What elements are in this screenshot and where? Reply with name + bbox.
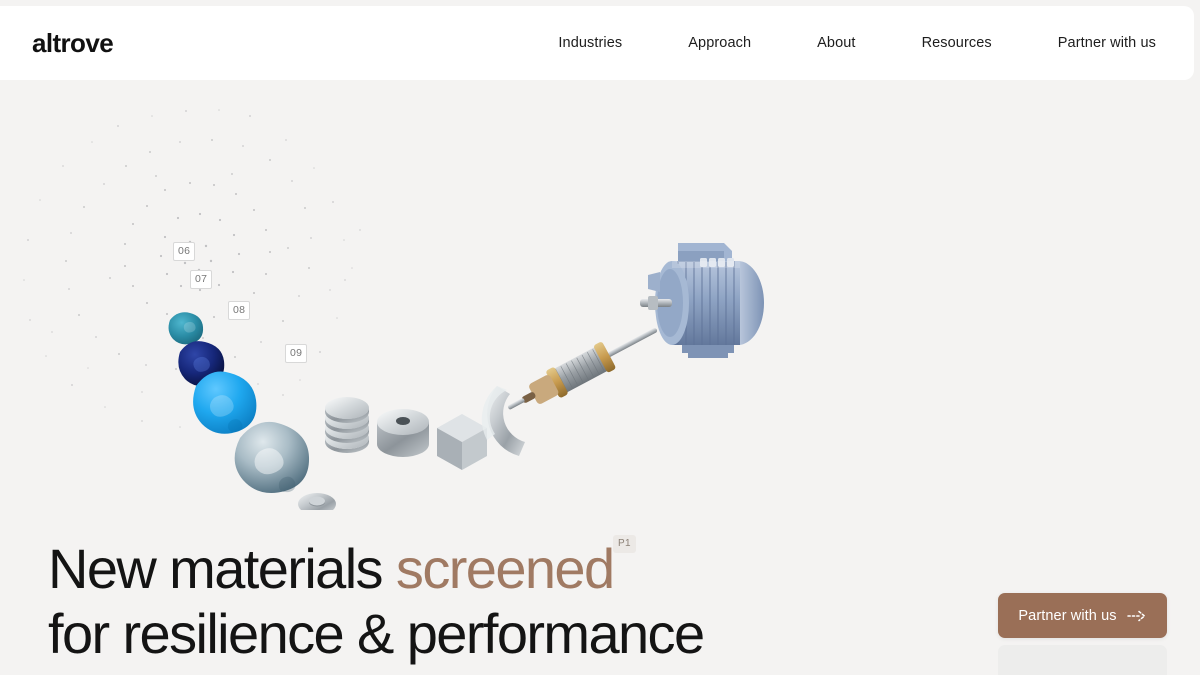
nav-item-partner-with-us[interactable]: Partner with us xyxy=(1025,35,1164,51)
floating-cta-stack: Partner with us xyxy=(998,593,1167,675)
assembled-electric-motor xyxy=(640,243,764,358)
nav-item-resources[interactable]: Resources xyxy=(889,35,1025,51)
metal-cylinder-hub xyxy=(377,409,429,457)
sample-label-06: 06 xyxy=(173,242,195,261)
nav-item-industries[interactable]: Industries xyxy=(525,35,655,51)
cta-label: Partner with us xyxy=(1018,608,1116,624)
headline-part-1: New materials xyxy=(48,537,396,600)
motor-rotor-armature xyxy=(501,316,664,422)
metal-washer-ring xyxy=(298,493,336,510)
page-title: New materials screened for resilience & … xyxy=(48,536,704,666)
sample-label-08: 08 xyxy=(228,301,250,320)
secondary-card-peek[interactable] xyxy=(998,645,1167,675)
main-navigation: Industries Approach About Resources Part… xyxy=(525,35,1164,51)
headline-line-2: for resilience & performance xyxy=(48,602,704,665)
partner-with-us-button[interactable]: Partner with us xyxy=(998,593,1167,638)
metal-arc-magnet xyxy=(482,386,525,456)
nav-item-approach[interactable]: Approach xyxy=(655,35,784,51)
headline-accent-word: screened xyxy=(396,537,614,600)
p1-badge: P1 xyxy=(613,535,636,553)
material-sample-06 xyxy=(169,312,204,344)
hero-visual: 06 07 08 09 xyxy=(0,80,820,510)
nav-item-about[interactable]: About xyxy=(784,35,888,51)
sample-label-09: 09 xyxy=(285,344,307,363)
material-sample-09 xyxy=(235,422,309,493)
site-logo[interactable]: altrove xyxy=(32,28,113,59)
material-sample-08 xyxy=(193,372,256,434)
metal-stacked-discs xyxy=(325,397,369,461)
metal-cube xyxy=(437,414,487,470)
site-header: altrove Industries Approach About Resour… xyxy=(0,6,1194,80)
hero-illustration xyxy=(0,80,820,510)
arrow-right-dashed-icon xyxy=(1127,609,1147,623)
sample-label-07: 07 xyxy=(190,270,212,289)
